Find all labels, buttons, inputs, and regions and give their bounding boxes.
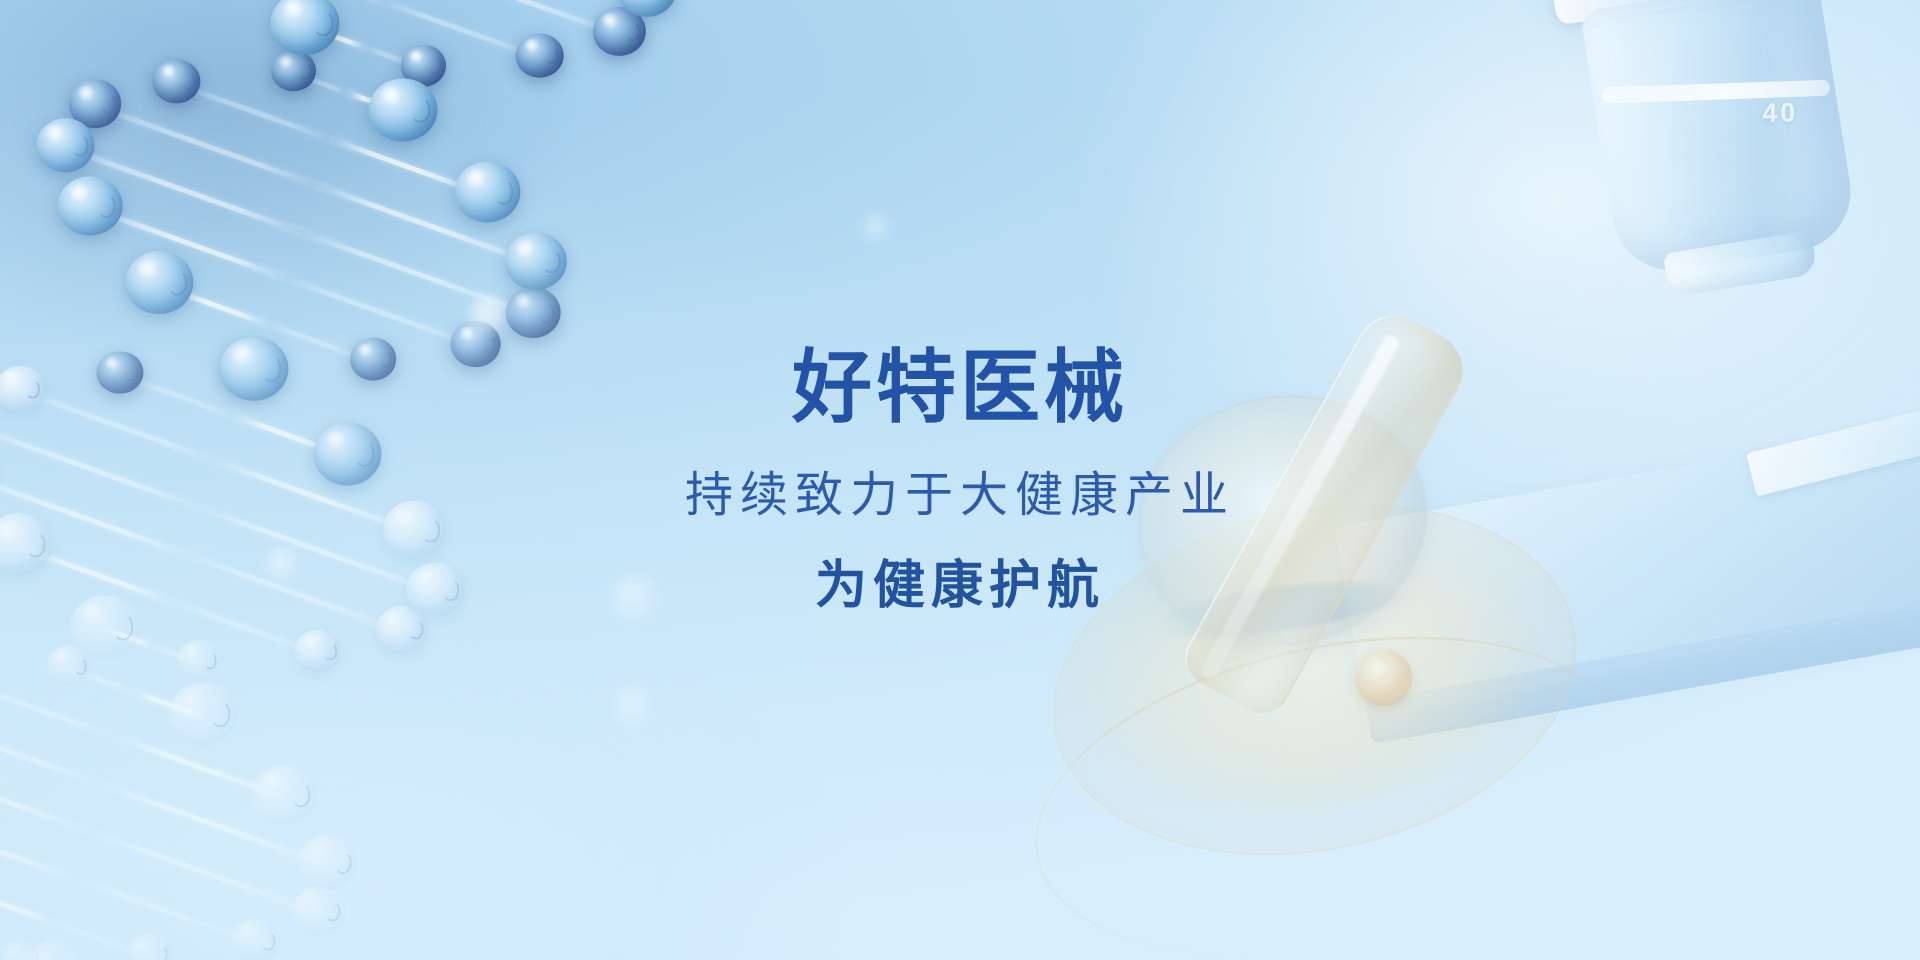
dna-bead (290, 885, 347, 937)
dna-bead-notch (407, 619, 423, 640)
dna-bead-notch (542, 249, 561, 273)
dna-bead (270, 0, 341, 56)
dna-bead-notch (73, 657, 87, 675)
dna-bead-notch (409, 96, 431, 123)
microscope-barrel (1580, 0, 1859, 279)
dna-bead (296, 834, 359, 892)
dna-bead (453, 161, 521, 224)
dna-bead (126, 933, 173, 960)
dna-bead-notch (291, 782, 312, 808)
dna-bead-notch (154, 946, 168, 960)
dna-bead-notch (428, 57, 442, 75)
dna-bead-notch (312, 9, 334, 36)
dna-bead-notch (544, 46, 559, 65)
dna-bead-notch (333, 851, 352, 875)
dna-bead (125, 250, 195, 315)
dna-bead-notch (166, 269, 187, 296)
dna-rung (86, 828, 319, 916)
dna-bead-notch (652, 0, 670, 1)
brand-title: 好特医械 (0, 348, 1920, 428)
dna-rung (94, 104, 316, 188)
dna-bead-notch (298, 62, 312, 80)
dna-bead-notch (96, 193, 116, 218)
dna-bead-notch (71, 134, 89, 157)
dna-bead (504, 232, 567, 291)
dna-bead-notch (203, 652, 217, 670)
dna-bead (367, 77, 438, 143)
dna-rung (0, 887, 55, 926)
dna-bead (176, 639, 222, 682)
tagline-primary: 持续致力于大健康产业 (0, 472, 1920, 520)
dna-rung (298, 229, 533, 317)
dna-bead-notch (538, 301, 555, 323)
dna-bead-notch (209, 700, 231, 727)
dna-bead (515, 32, 564, 78)
dna-bead-notch (181, 71, 196, 90)
dna-bead-notch (494, 179, 515, 205)
liquid-droplet (1356, 650, 1412, 706)
hero-text-block: 好特医械 持续致力于大健康产业 为健康护航 (0, 348, 1920, 612)
tagline-secondary: 为健康护航 (0, 560, 1920, 612)
dna-rung (0, 745, 88, 833)
dna-bead (35, 117, 95, 173)
dna-bead (230, 917, 281, 960)
dna-bead (270, 50, 316, 93)
microscope-magnification-label: 40 (1762, 98, 1799, 130)
dna-bead-notch (324, 900, 341, 922)
dna-bead (250, 764, 318, 827)
dna-bead (57, 175, 123, 236)
dna-bead (294, 629, 343, 674)
dna-rung (176, 81, 333, 141)
dna-bead-notch (624, 21, 641, 42)
dna-bead-notch (100, 93, 116, 114)
dna-bead (152, 58, 201, 104)
dna-bead-notch (322, 642, 337, 661)
dna-bead (504, 286, 561, 339)
dna-bead-notch (260, 931, 275, 951)
dna-bead-notch (112, 613, 134, 640)
dna-bead (167, 681, 238, 747)
hero-banner: 40 好特医械 持续致力于大健康产业 为健康护航 (0, 0, 1920, 960)
dna-rung (0, 677, 120, 741)
